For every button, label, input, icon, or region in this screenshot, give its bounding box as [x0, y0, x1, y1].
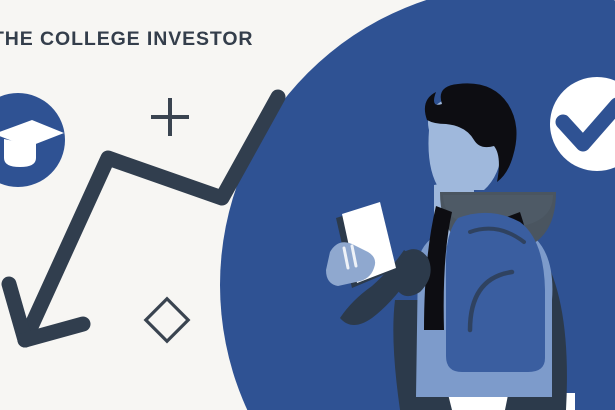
backpack [446, 213, 545, 372]
hero-illustration-canvas: THE COLLEGE INVESTOR [0, 0, 615, 410]
page-title: THE COLLEGE INVESTOR [0, 30, 253, 50]
artwork-svg [0, 0, 615, 410]
